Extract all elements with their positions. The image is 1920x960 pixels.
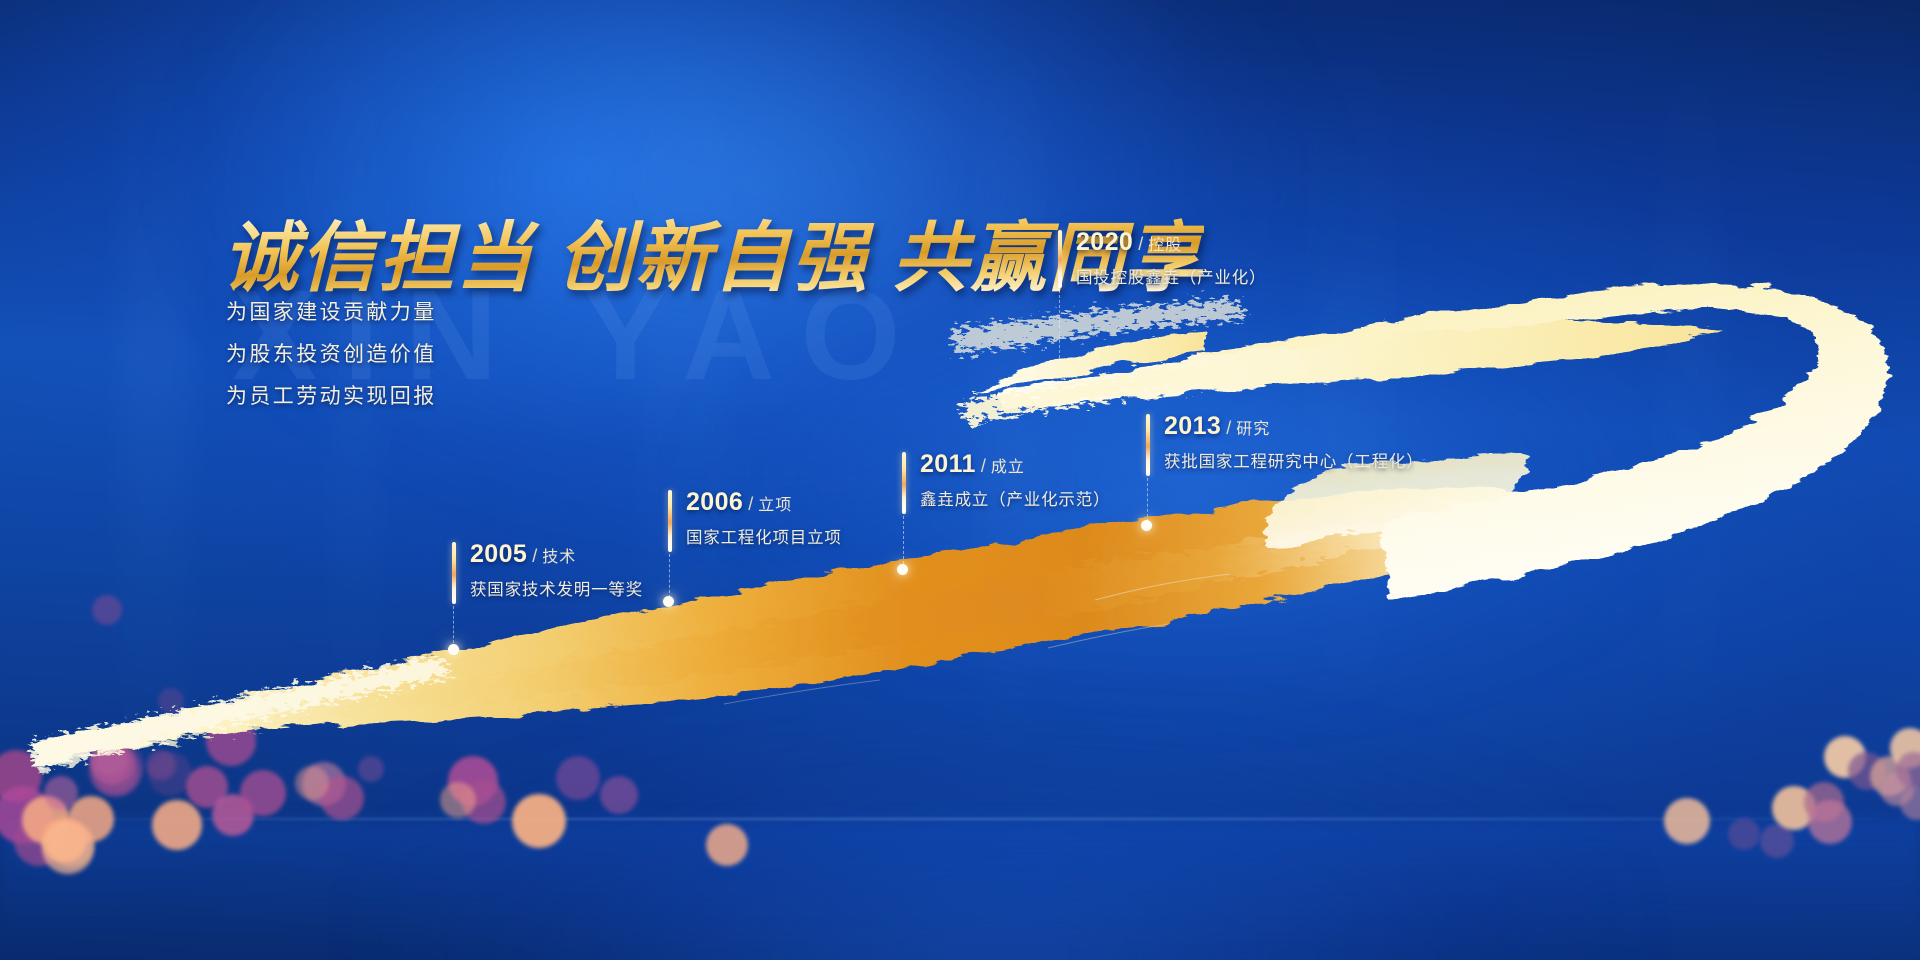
- marker-separator: /: [1138, 234, 1143, 255]
- marker-description: 鑫垚成立（产业化示范）: [920, 486, 1110, 510]
- marker-accent-bar: [1146, 414, 1150, 476]
- marker-category: 技术: [542, 543, 576, 567]
- marker-leader-line-2013: [1147, 478, 1148, 522]
- marker-category: 控股: [1148, 231, 1182, 255]
- subtitle-line-2: 为股东投资创造价值: [226, 338, 437, 368]
- timeline-marker-2020[interactable]: 2020 / 控股 国投控股鑫垚（产业化）: [1058, 228, 1266, 288]
- marker-leader-line-2011: [903, 516, 904, 564]
- marker-leader-line-2005: [453, 606, 454, 648]
- marker-category: 成立: [991, 453, 1025, 477]
- marker-heading: 2006 / 立项: [686, 488, 842, 517]
- marker-leader-line-2020: [1059, 290, 1060, 358]
- marker-description: 国家工程化项目立项: [686, 524, 842, 548]
- marker-separator: /: [532, 546, 537, 567]
- subtitle-line-1: 为国家建设贡献力量: [226, 296, 437, 326]
- marker-heading: 2020 / 控股: [1076, 228, 1266, 257]
- marker-heading: 2005 / 技术: [470, 540, 643, 569]
- marker-year: 2020: [1076, 228, 1133, 257]
- marker-separator: /: [1226, 418, 1231, 439]
- timeline-marker-2006[interactable]: 2006 / 立项 国家工程化项目立项: [668, 488, 842, 548]
- marker-node-2013[interactable]: [1141, 520, 1152, 531]
- marker-description: 获国家技术发明一等奖: [470, 576, 643, 600]
- marker-description: 国投控股鑫垚（产业化）: [1076, 264, 1266, 288]
- marker-year: 2013: [1164, 412, 1221, 441]
- timeline-marker-2013[interactable]: 2013 / 研究 获批国家工程研究中心（工程化）: [1146, 412, 1424, 472]
- marker-node-2005[interactable]: [448, 644, 459, 655]
- marker-accent-bar: [902, 452, 906, 514]
- marker-year: 2005: [470, 540, 527, 569]
- marker-category: 研究: [1236, 415, 1270, 439]
- marker-accent-bar: [668, 490, 672, 552]
- poster-canvas: XIN YAO: [0, 0, 1920, 960]
- marker-category: 立项: [758, 491, 792, 515]
- page-title: 诚信担当 创新自强 共赢同享: [222, 196, 1204, 306]
- marker-description: 获批国家工程研究中心（工程化）: [1164, 448, 1424, 472]
- subtitle-line-3: 为员工劳动实现回报: [226, 380, 437, 410]
- marker-heading: 2013 / 研究: [1164, 412, 1424, 441]
- marker-node-2006[interactable]: [663, 596, 674, 607]
- timeline-marker-2011[interactable]: 2011 / 成立 鑫垚成立（产业化示范）: [902, 450, 1110, 510]
- marker-node-2011[interactable]: [897, 564, 908, 575]
- timeline-marker-2005[interactable]: 2005 / 技术 获国家技术发明一等奖: [452, 540, 643, 600]
- marker-separator: /: [748, 494, 753, 515]
- marker-year: 2006: [686, 488, 743, 517]
- marker-separator: /: [981, 456, 986, 477]
- marker-accent-bar: [1058, 230, 1062, 288]
- marker-heading: 2011 / 成立: [920, 450, 1110, 479]
- marker-accent-bar: [452, 542, 456, 604]
- marker-leader-line-2006: [669, 554, 670, 598]
- marker-year: 2011: [920, 450, 976, 479]
